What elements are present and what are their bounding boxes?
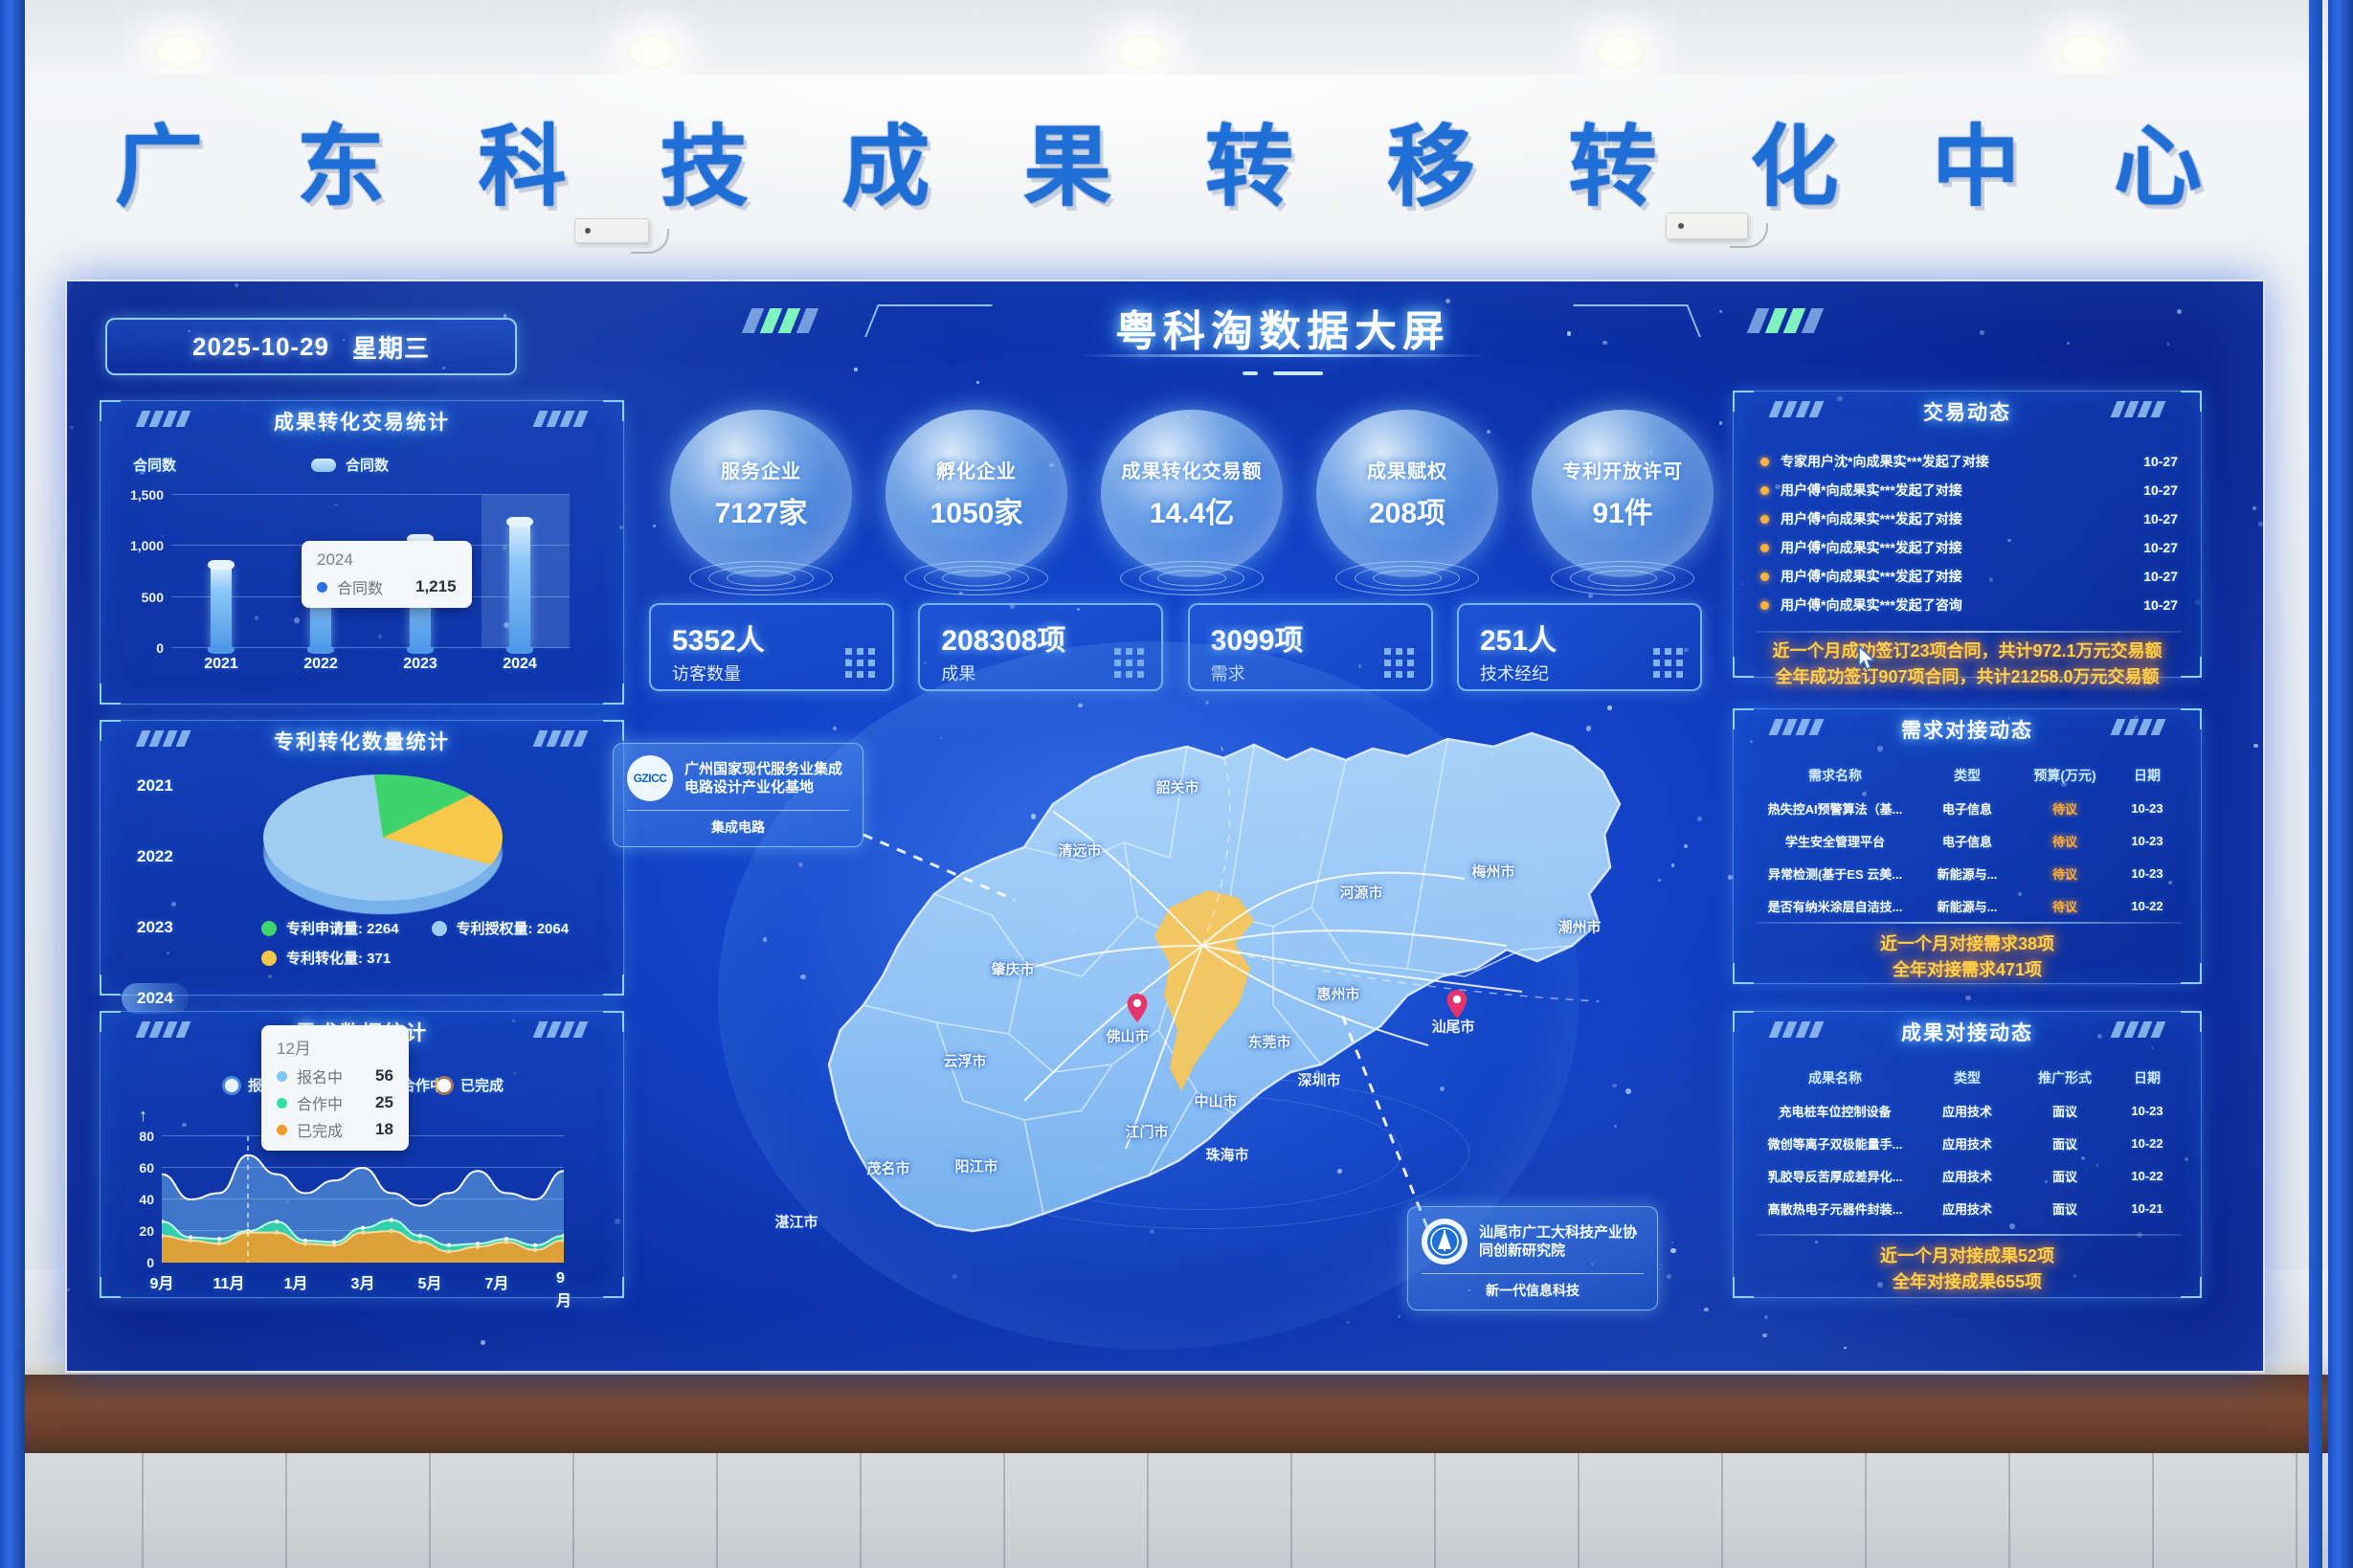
feed-item[interactable]: 用户傅*向成果实***发起了对接 10-27 bbox=[1760, 476, 2178, 504]
result-name: 充电桩车位控制设备 bbox=[1755, 1102, 1916, 1120]
pie-legend: 专利申请量: 2264 专利授权量: 2064 专利转化量: 371 bbox=[261, 918, 606, 977]
tooltip-dot bbox=[277, 1071, 287, 1082]
feed-date: 10-27 bbox=[2143, 482, 2178, 498]
x-axis-tick: 3月 bbox=[351, 1270, 375, 1293]
ceiling-light bbox=[153, 34, 205, 69]
result-name: 乳胶导反苦厚成差异化... bbox=[1755, 1167, 1916, 1185]
area-chart-tooltip: 12月 报名中 56 合作中 25 已完成 18 bbox=[261, 1025, 409, 1151]
pie-legend-item[interactable]: 专利申请量: 2264 bbox=[261, 918, 399, 938]
demand-summary: 近一个月对接需求38项 全年对接需求471项 bbox=[1734, 931, 2201, 983]
map-city-label[interactable]: 佛山市 bbox=[1106, 1026, 1149, 1046]
callout-divider bbox=[627, 810, 849, 811]
column-header: 需求名称 bbox=[1755, 766, 1916, 785]
x-axis-tick: 11月 bbox=[213, 1270, 245, 1293]
summary-line: 近一个月对接成果52项 bbox=[1734, 1243, 2201, 1269]
bubble-value: 208项 bbox=[1369, 489, 1445, 531]
legend-dot bbox=[261, 951, 277, 966]
summary-line: 全年成功签订907项合同，共计21258.0万元交易额 bbox=[1734, 664, 2201, 690]
result-name: 微创等离子双极能量手... bbox=[1755, 1134, 1916, 1153]
summary-line: 近一个月对接需求38项 bbox=[1734, 931, 2201, 957]
sign-char: 科 bbox=[479, 123, 567, 212]
panel-title: 需求对接动态 bbox=[1734, 715, 2201, 744]
feed-text: 用户傅*向成果实***发起了对接 bbox=[1781, 481, 1962, 500]
map-city-label[interactable]: 茂名市 bbox=[866, 1158, 909, 1178]
map-location-pin[interactable] bbox=[1127, 994, 1148, 1022]
map-city-label[interactable]: 江门市 bbox=[1125, 1122, 1168, 1142]
x-axis-tick: 2022 bbox=[303, 656, 338, 673]
map-city-label[interactable]: 清远市 bbox=[1058, 840, 1101, 861]
map-city-label[interactable]: 珠海市 bbox=[1205, 1145, 1248, 1165]
feed-date: 10-27 bbox=[2143, 540, 2178, 555]
mouse-cursor-icon bbox=[1854, 643, 1879, 674]
result-name: 高散热电子元器件封装... bbox=[1755, 1199, 1916, 1218]
x-axis-tick: 2023 bbox=[403, 656, 437, 673]
x-axis-tick: 1月 bbox=[284, 1270, 308, 1293]
demand-name: 是否有纳米涂层自洁技... bbox=[1755, 897, 1916, 915]
x-axis-tick: 5月 bbox=[418, 1270, 442, 1293]
feed-date: 10-27 bbox=[2143, 454, 2178, 469]
kpi-bubble[interactable]: 成果赋权 208项 bbox=[1316, 410, 1498, 592]
panel-divider bbox=[1757, 631, 2182, 633]
bullet-icon bbox=[1760, 544, 1769, 552]
kpi-bubble[interactable]: 专利开放许可 91件 bbox=[1532, 410, 1714, 592]
x-axis-tick: 2021 bbox=[204, 656, 238, 673]
demand-budget: 待议 bbox=[2019, 864, 2111, 883]
legend-text: 专利转化量: 371 bbox=[286, 948, 391, 968]
demand-date: 10-23 bbox=[2111, 834, 2184, 848]
map-city-label[interactable]: 深圳市 bbox=[1297, 1070, 1340, 1090]
tile-floor bbox=[0, 1453, 2353, 1568]
map-city-label[interactable]: 河源市 bbox=[1339, 883, 1382, 903]
table-row[interactable]: 乳胶导反苦厚成差异化... 应用技术 面议 10-22 bbox=[1755, 1159, 2184, 1192]
sign-char: 东 bbox=[297, 123, 385, 212]
map-city-label[interactable]: 云浮市 bbox=[943, 1051, 986, 1071]
column-header: 日期 bbox=[2111, 1068, 2184, 1087]
gdut-logo-icon bbox=[1422, 1219, 1468, 1265]
map-city-label[interactable]: 汕尾市 bbox=[1431, 1017, 1474, 1037]
feed-item[interactable]: 用户傅*向成果实***发起了对接 10-27 bbox=[1760, 504, 2178, 533]
callout-org-name: 广州国家现代服务业集成电路设计产业化基地 bbox=[684, 760, 849, 796]
map-city-label[interactable]: 湛江市 bbox=[774, 1212, 818, 1232]
panel-title: 成果对接动态 bbox=[1734, 1018, 2201, 1046]
legend-text: 专利授权量: 2064 bbox=[457, 918, 570, 938]
sensor-dot bbox=[585, 228, 591, 234]
column-header: 类型 bbox=[1916, 1068, 2019, 1087]
tooltip-series-name: 合同数 bbox=[337, 575, 406, 598]
kpi-bubble[interactable]: 成果转化交易额 14.4亿 bbox=[1101, 410, 1283, 592]
summary-line: 全年对接需求471项 bbox=[1734, 957, 2201, 983]
y-axis-tick: 60 bbox=[139, 1160, 154, 1176]
y-axis-tick: 1,000 bbox=[130, 538, 164, 553]
ceiling-light bbox=[1115, 34, 1167, 69]
feed-text: 用户傅*向成果实***发起了对接 bbox=[1781, 538, 1962, 557]
tooltip-dot bbox=[277, 1098, 287, 1109]
ceiling-light bbox=[627, 34, 679, 69]
map-city-label[interactable]: 肇庆市 bbox=[991, 959, 1034, 979]
panel-demand-statistics[interactable]: 需求数据统计 报名中 合作中 已完成 ↑ 0204060809月11月1月3月5… bbox=[100, 1011, 624, 1298]
bubble-value: 1050家 bbox=[930, 489, 1023, 531]
result-table[interactable]: 成果名称 类型 推广形式 日期 充电桩车位控制设备 应用技术 面议 10-23 … bbox=[1755, 1062, 2184, 1224]
summary-line: 近一个月成功签订23项合同，共计972.1万元交易额 bbox=[1734, 638, 2201, 664]
map-city-label[interactable]: 东莞市 bbox=[1247, 1032, 1290, 1052]
result-form: 面议 bbox=[2019, 1167, 2111, 1185]
panel-title: 专利转化数量统计 bbox=[101, 727, 623, 755]
header-slash-decoration-right bbox=[1752, 308, 1819, 333]
demand-type: 电子信息 bbox=[1916, 832, 2019, 850]
result-date: 10-22 bbox=[2111, 1136, 2184, 1151]
date-text: 2025-10-29 bbox=[192, 332, 329, 362]
bubble-label: 孵化企业 bbox=[936, 456, 1017, 483]
y-axis-tick: 0 bbox=[156, 640, 164, 656]
table-row[interactable]: 学生安全管理平台 电子信息 待议 10-23 bbox=[1755, 824, 2184, 857]
wood-floor-strip bbox=[0, 1375, 2353, 1455]
institute-emblem-icon bbox=[1425, 1222, 1464, 1261]
feed-date: 10-27 bbox=[2143, 569, 2178, 584]
result-type: 应用技术 bbox=[1916, 1134, 2019, 1153]
bar-chart-tooltip: 2024 合同数 1,215 bbox=[302, 541, 472, 608]
sign-char: 技 bbox=[660, 123, 748, 212]
sign-char: 心 bbox=[2114, 123, 2202, 212]
demand-name: 学生安全管理平台 bbox=[1755, 832, 1916, 850]
y-axis-tick: 40 bbox=[139, 1192, 154, 1207]
tooltip-row: 已完成 18 bbox=[277, 1118, 393, 1141]
y-axis-tick: 500 bbox=[142, 590, 164, 605]
feed-text: 用户傅*向成果实***发起了咨询 bbox=[1781, 595, 1962, 615]
table-row[interactable]: 高散热电子元器件封装... 应用技术 面议 10-21 bbox=[1755, 1192, 2184, 1224]
bubble-rings bbox=[1551, 559, 1694, 597]
legend-label: 合同数 bbox=[346, 455, 389, 475]
panel-title: 成果转化交易统计 bbox=[101, 407, 623, 436]
tooltip-dot bbox=[277, 1125, 287, 1135]
table-header-row: 成果名称 类型 推广形式 日期 bbox=[1755, 1062, 2184, 1094]
callout-org-name: 汕尾市广工大科技产业协同创新研究院 bbox=[1479, 1223, 1644, 1260]
demand-type: 新能源与... bbox=[1916, 897, 2019, 915]
bubble-value: 91件 bbox=[1592, 489, 1652, 531]
tooltip-row: 合同数 1,215 bbox=[317, 575, 457, 598]
sign-char: 广 bbox=[115, 123, 203, 212]
pie-year-option[interactable]: 2023 bbox=[122, 912, 189, 943]
bubble-ball: 成果转化交易额 14.4亿 bbox=[1101, 410, 1283, 577]
panel-transaction-statistics[interactable]: 成果转化交易统计 合同数 合同数 1,5001,0005000202120222… bbox=[100, 400, 624, 705]
dashboard-header: 粤科淘数据大屏 bbox=[728, 287, 1838, 392]
legend-text: 专利申请量: 2264 bbox=[286, 918, 399, 938]
panel-divider bbox=[1757, 922, 2182, 924]
column-header: 类型 bbox=[1916, 766, 2019, 785]
panel-patent-statistics[interactable]: 专利转化数量统计 2021 2022 2023 2024 专利申请量: 2264… bbox=[100, 720, 624, 996]
feed-text: 专家用户沈*向成果实***发起了对接 bbox=[1781, 452, 1989, 471]
result-date: 10-23 bbox=[2111, 1104, 2184, 1118]
bubble-label: 成果转化交易额 bbox=[1122, 456, 1263, 483]
pie-year-option-selected[interactable]: 2024 bbox=[122, 983, 189, 1014]
table-row[interactable]: 热失控AI预警算法（基... 电子信息 待议 10-23 bbox=[1755, 792, 2184, 824]
bubble-label: 专利开放许可 bbox=[1562, 456, 1683, 483]
transaction-feed-list[interactable]: 专家用户沈*向成果实***发起了对接 10-27 用户傅*向成果实***发起了对… bbox=[1760, 447, 2178, 619]
x-axis-tick: 2024 bbox=[503, 656, 537, 673]
ceiling-light bbox=[2058, 34, 2110, 69]
demand-budget: 待议 bbox=[2019, 897, 2111, 915]
bubble-rings bbox=[1120, 559, 1264, 597]
map-city-label[interactable]: 韶关市 bbox=[1155, 777, 1199, 797]
table-row[interactable]: 异常检测(基于ES 云美... 新能源与... 待议 10-23 bbox=[1755, 857, 2184, 889]
kpi-bubble[interactable]: 服务企业 7127家 bbox=[670, 410, 852, 592]
legend-label: 已完成 bbox=[460, 1075, 504, 1095]
kpi-bubble[interactable]: 孵化企业 1050家 bbox=[885, 410, 1067, 592]
bubble-rings bbox=[689, 559, 833, 597]
column-header: 日期 bbox=[2111, 766, 2184, 785]
bubble-value: 14.4亿 bbox=[1150, 489, 1234, 531]
left-pillar bbox=[0, 0, 25, 1568]
bubble-ball: 专利开放许可 91件 bbox=[1532, 410, 1714, 577]
legend-dot bbox=[261, 921, 277, 936]
result-date: 10-21 bbox=[2111, 1201, 2184, 1216]
map-city-label[interactable]: 梅州市 bbox=[1471, 862, 1514, 882]
date-bar: 2025-10-29 星期三 bbox=[105, 318, 517, 375]
header-bracket-right bbox=[1573, 304, 1701, 337]
x-axis-tick: 7月 bbox=[485, 1270, 509, 1293]
pie-legend-item[interactable]: 专利转化量: 371 bbox=[261, 948, 606, 968]
result-form: 面议 bbox=[2019, 1102, 2111, 1120]
ceiling-light bbox=[1594, 34, 1646, 69]
map-city-label[interactable]: 中山市 bbox=[1194, 1091, 1237, 1111]
area-legend-item[interactable]: 已完成 bbox=[437, 1075, 504, 1095]
bubble-ball: 服务企业 7127家 bbox=[670, 410, 852, 577]
wall-signage: 广 东 科 技 成 果 转 移 转 化 中 心 bbox=[115, 115, 2202, 220]
column-header: 成果名称 bbox=[1755, 1068, 1916, 1087]
area-y-axis-title: ↑ bbox=[139, 1106, 147, 1126]
map-city-label[interactable]: 惠州市 bbox=[1316, 984, 1359, 1004]
sign-char: 转 bbox=[1205, 123, 1293, 212]
weekday-text: 星期三 bbox=[352, 329, 430, 365]
tooltip-value: 56 bbox=[375, 1066, 393, 1086]
column-header: 预算(万元) bbox=[2019, 766, 2111, 785]
tooltip-series-name: 已完成 bbox=[297, 1118, 366, 1141]
sign-char: 化 bbox=[1750, 123, 1838, 212]
x-axis-tick: 9月 bbox=[556, 1270, 571, 1310]
sensor-dot bbox=[1678, 223, 1684, 229]
dashboard-title: 粤科淘数据大屏 bbox=[1115, 297, 1450, 358]
demand-date: 10-23 bbox=[2111, 866, 2184, 881]
result-date: 10-22 bbox=[2111, 1169, 2184, 1183]
summary-line: 全年对接成果655项 bbox=[1734, 1269, 2201, 1295]
panel-transaction-feed[interactable]: 交易动态 专家用户沈*向成果实***发起了对接 10-27 用户傅*向成果实**… bbox=[1733, 391, 2202, 678]
table-row[interactable]: 充电桩车位控制设备 应用技术 面议 10-23 bbox=[1755, 1094, 2184, 1127]
demand-table[interactable]: 需求名称 类型 预算(万元) 日期 热失控AI预警算法（基... 电子信息 待议… bbox=[1755, 759, 2184, 922]
pie-chart[interactable] bbox=[263, 774, 503, 918]
bubble-ball: 成果赋权 208项 bbox=[1316, 410, 1498, 577]
pie-year-option[interactable]: 2022 bbox=[122, 841, 189, 872]
sign-char: 转 bbox=[1569, 123, 1657, 212]
bar[interactable] bbox=[509, 524, 530, 648]
result-type: 应用技术 bbox=[1916, 1199, 2019, 1218]
pie-year-selector[interactable]: 2021 2022 2023 2024 bbox=[122, 771, 189, 1014]
tooltip-value: 25 bbox=[375, 1093, 393, 1112]
demand-type: 电子信息 bbox=[1916, 799, 2019, 818]
area-chart-plot[interactable]: 0204060809月11月1月3月5月7月9月 bbox=[162, 1136, 564, 1263]
map-callout-left[interactable]: GZICC 广州国家现代服务业集成电路设计产业化基地 集成电路 bbox=[613, 743, 863, 847]
demand-name: 热失控AI预警算法（基... bbox=[1755, 799, 1916, 818]
callout-tag: 集成电路 bbox=[627, 818, 849, 837]
pie-year-option[interactable]: 2021 bbox=[122, 771, 189, 801]
feed-item[interactable]: 用户傅*向成果实***发起了对接 10-27 bbox=[1760, 533, 2178, 562]
ceiling bbox=[0, 0, 2353, 77]
header-dashes bbox=[1243, 371, 1323, 375]
sign-char: 移 bbox=[1387, 123, 1475, 212]
bar[interactable] bbox=[211, 567, 232, 648]
bubble-rings bbox=[905, 559, 1048, 597]
x-axis-tick: 9月 bbox=[150, 1270, 174, 1293]
feed-item[interactable]: 用户傅*向成果实***发起了咨询 10-27 bbox=[1760, 591, 2178, 619]
bullet-icon bbox=[1760, 601, 1769, 610]
bubble-rings bbox=[1335, 559, 1479, 597]
tooltip-title: 12月 bbox=[277, 1035, 393, 1059]
tooltip-value: 18 bbox=[375, 1120, 393, 1139]
result-form: 面议 bbox=[2019, 1134, 2111, 1153]
result-type: 应用技术 bbox=[1916, 1102, 2019, 1120]
legend-swatch bbox=[311, 459, 336, 472]
legend-dot bbox=[225, 1079, 238, 1092]
sign-char: 成 bbox=[841, 123, 930, 212]
sign-char: 中 bbox=[1932, 123, 2020, 212]
map-city-label[interactable]: 阳江市 bbox=[954, 1156, 997, 1176]
feed-item[interactable]: 用户傅*向成果实***发起了对接 10-27 bbox=[1760, 562, 2178, 591]
panel-divider bbox=[1757, 1234, 2182, 1236]
tooltip-series-name: 报名中 bbox=[297, 1064, 366, 1087]
bubble-ball: 孵化企业 1050家 bbox=[885, 410, 1067, 577]
bullet-icon bbox=[1760, 458, 1769, 466]
y-axis-tick: 20 bbox=[139, 1223, 154, 1239]
bubble-label: 服务企业 bbox=[721, 456, 801, 483]
callout-tag: 新一代信息科技 bbox=[1422, 1281, 1644, 1300]
header-rule bbox=[1077, 354, 1489, 357]
table-header-row: 需求名称 类型 预算(万元) 日期 bbox=[1755, 759, 2184, 792]
feed-date: 10-27 bbox=[2143, 511, 2178, 526]
table-row[interactable]: 是否有纳米涂层自洁技... 新能源与... 待议 10-22 bbox=[1755, 889, 2184, 922]
bullet-icon bbox=[1760, 515, 1769, 524]
panel-result-matching[interactable]: 成果对接动态 成果名称 类型 推广形式 日期 充电桩车位控制设备 应用技术 面议… bbox=[1733, 1011, 2202, 1298]
pie-legend-item[interactable]: 专利授权量: 2064 bbox=[432, 918, 570, 938]
column-header: 推广形式 bbox=[2019, 1068, 2111, 1087]
legend-dot bbox=[437, 1079, 451, 1092]
feed-text: 用户傅*向成果实***发起了对接 bbox=[1781, 567, 1962, 586]
panel-title: 交易动态 bbox=[1734, 397, 2201, 426]
result-type: 应用技术 bbox=[1916, 1167, 2019, 1185]
bullet-icon bbox=[1760, 572, 1769, 581]
tooltip-row: 合作中 25 bbox=[277, 1091, 393, 1114]
table-row[interactable]: 微创等离子双极能量手... 应用技术 面议 10-22 bbox=[1755, 1127, 2184, 1159]
header-bracket-left bbox=[864, 304, 993, 337]
tooltip-title: 2024 bbox=[317, 550, 457, 570]
demand-budget: 待议 bbox=[2019, 799, 2111, 818]
bubble-label: 成果赋权 bbox=[1367, 456, 1447, 483]
result-summary: 近一个月对接成果52项 全年对接成果655项 bbox=[1734, 1243, 2201, 1295]
y-axis-tick: 1,500 bbox=[130, 487, 164, 503]
feed-item[interactable]: 专家用户沈*向成果实***发起了对接 10-27 bbox=[1760, 447, 2178, 476]
sign-char: 果 bbox=[1023, 123, 1111, 212]
demand-date: 10-23 bbox=[2111, 801, 2184, 816]
gzicc-logo-icon: GZICC bbox=[627, 755, 673, 801]
area-series-svg bbox=[162, 1136, 564, 1263]
tooltip-value: 1,215 bbox=[415, 577, 457, 596]
bubble-value: 7127家 bbox=[715, 489, 808, 531]
demand-name: 异常检测(基于ES 云美... bbox=[1755, 864, 1916, 883]
map-location-pin[interactable] bbox=[1446, 990, 1468, 1019]
feed-date: 10-27 bbox=[2143, 597, 2178, 613]
bar-legend[interactable]: 合同数 bbox=[311, 455, 389, 475]
y-axis-tick: 0 bbox=[146, 1255, 154, 1270]
demand-budget: 待议 bbox=[2019, 832, 2111, 850]
y-axis-tick: 80 bbox=[139, 1129, 154, 1144]
callout-divider bbox=[1422, 1273, 1644, 1274]
bar-y-axis-title: 合同数 bbox=[133, 455, 176, 475]
pie-disc bbox=[263, 774, 503, 901]
demand-type: 新能源与... bbox=[1916, 864, 2019, 883]
header-slash-decoration-left bbox=[747, 308, 814, 333]
demand-date: 10-22 bbox=[2111, 899, 2184, 913]
tooltip-dot bbox=[317, 582, 327, 593]
tooltip-series-name: 合作中 bbox=[297, 1091, 366, 1114]
wall-sensor-right bbox=[1666, 213, 1748, 239]
map-callout-right[interactable]: 汕尾市广工大科技产业协同创新研究院 新一代信息科技 bbox=[1407, 1206, 1658, 1310]
wall-sensor-left bbox=[574, 218, 649, 243]
map-city-label[interactable]: 潮州市 bbox=[1557, 917, 1601, 937]
right-pillar-secondary bbox=[2309, 0, 2322, 1568]
tooltip-row: 报名中 56 bbox=[277, 1064, 393, 1087]
legend-dot bbox=[432, 921, 447, 936]
panel-demand-matching[interactable]: 需求对接动态 需求名称 类型 预算(万元) 日期 热失控AI预警算法（基... … bbox=[1733, 708, 2202, 984]
transaction-summary: 近一个月成功签订23项合同，共计972.1万元交易额 全年成功签订907项合同，… bbox=[1734, 638, 2201, 690]
result-form: 面议 bbox=[2019, 1199, 2111, 1218]
bullet-icon bbox=[1760, 486, 1769, 495]
kpi-bubble-row: 服务企业 7127家 孵化企业 1050家 成果转化交易额 14.4亿 成果赋权… bbox=[670, 410, 1714, 592]
feed-text: 用户傅*向成果实***发起了对接 bbox=[1781, 509, 1962, 528]
guangdong-map[interactable]: 韶关市清远市河源市梅州市潮州市肇庆市佛山市东莞市惠州市深圳市汕尾市云浮市中山市江… bbox=[613, 670, 1723, 1340]
right-pillar bbox=[2328, 0, 2353, 1568]
